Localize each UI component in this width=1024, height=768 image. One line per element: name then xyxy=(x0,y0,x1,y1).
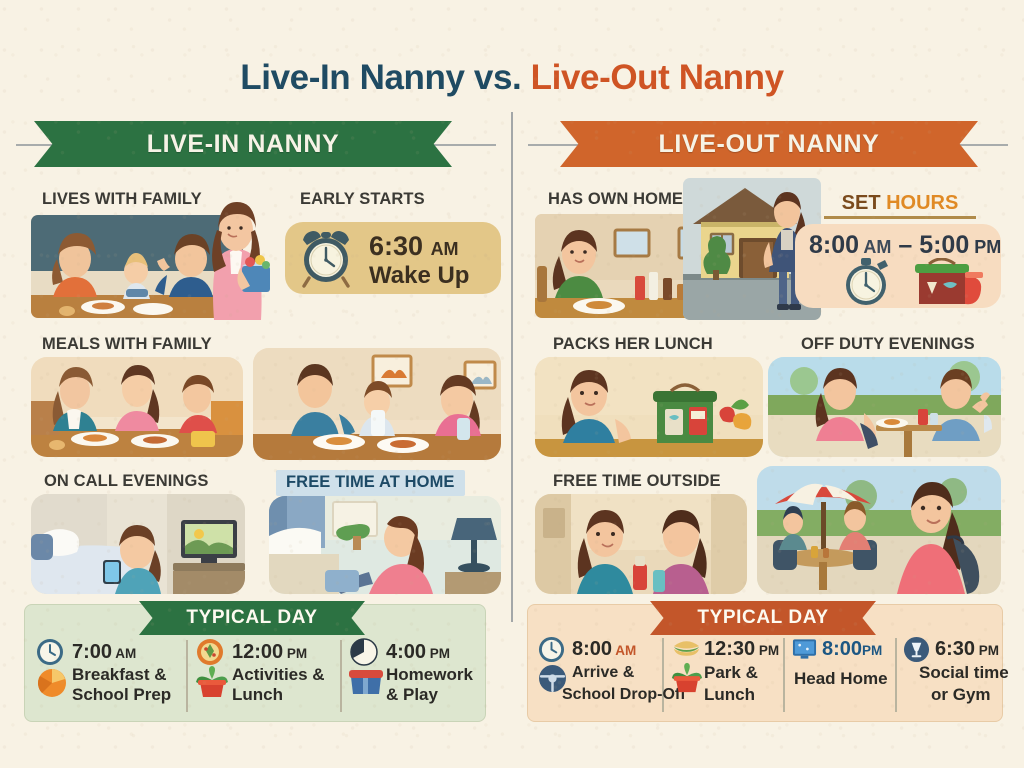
clock-icon xyxy=(36,638,64,666)
typical-day-time-left-1: 7:00 AM xyxy=(72,642,136,662)
set-hours-word-2: HOURS xyxy=(886,192,958,214)
pie-slice-clock-icon xyxy=(350,638,378,666)
page-title: Live-In Nanny vs. Live-Out Nanny xyxy=(0,58,1024,98)
typical-day-separator xyxy=(340,640,342,712)
illustration-cafe-terrace xyxy=(757,466,1001,594)
illustration-off-duty-evening xyxy=(768,357,1001,457)
typical-day-item-right-1: 8:00 AM Arrive & School Drop-Off xyxy=(538,636,662,716)
caption-on-call-evenings: ON CALL EVENINGS xyxy=(44,472,208,491)
typical-day-time-right-1: 8:00 AM xyxy=(572,639,636,659)
typical-day-separator xyxy=(783,638,785,712)
typical-day-time-right-3: 8:00PM xyxy=(822,639,882,659)
potted-plant-icon xyxy=(194,666,230,698)
typical-day-time-left-2: 12:00 PM xyxy=(232,642,307,662)
typical-day-item-left-2: 12:00 PM Activities & Lunch xyxy=(196,638,336,714)
monitor-icon xyxy=(792,638,817,660)
page-title-right: Live-Out Nanny xyxy=(531,58,784,97)
typical-day-desc-left-1-line1: Breakfast & xyxy=(72,666,167,684)
clock-icon xyxy=(538,636,565,663)
caption-lives-with-family: LIVES WITH FAMILY xyxy=(42,190,202,209)
illustration-packing-lunch xyxy=(535,357,763,457)
alarm-clock-icon xyxy=(295,228,357,288)
typical-day-time-right-2: 12:30 PM xyxy=(704,639,779,659)
wake-up-label: Wake Up xyxy=(369,263,469,289)
potted-plant-icon xyxy=(670,662,704,694)
caption-free-time-outside: FREE TIME OUTSIDE xyxy=(553,472,721,491)
sandwich-icon xyxy=(672,636,701,662)
caption-early-starts: EARLY STARTS xyxy=(300,190,425,209)
toy-box-icon xyxy=(348,668,384,696)
typical-day-desc-right-4-line1: Social time xyxy=(919,664,1009,682)
typical-day-separator xyxy=(186,640,188,712)
typical-day-ribbon-left: TYPICAL DAY xyxy=(139,601,365,635)
banner-live-in: LIVE-IN NANNY xyxy=(34,121,452,167)
banner-live-out-label: LIVE-OUT NANNY xyxy=(659,130,880,159)
illustration-free-time-at-home xyxy=(269,496,501,594)
typical-day-separator xyxy=(895,638,897,712)
card-wake-up-time: 6:30 AM Wake Up xyxy=(285,222,501,294)
pie-chart-icon xyxy=(36,668,68,698)
typical-day-desc-right-1-line1: Arrive & xyxy=(572,664,634,681)
typical-day-desc-left-2-line2: Lunch xyxy=(232,686,283,704)
typical-day-desc-left-1-line2: School Prep xyxy=(72,686,171,704)
page-title-vs: vs. xyxy=(465,58,531,97)
illustration-meals-with-family xyxy=(31,357,243,457)
stopwatch-icon xyxy=(839,258,895,306)
set-hours-time-range: 8:00 AM – 5:00 PM xyxy=(809,232,1001,258)
typical-day-desc-right-4-line2: or Gym xyxy=(931,686,991,704)
typical-day-desc-left-3-line2: & Play xyxy=(386,686,438,704)
typical-day-item-right-3: 8:00PM Head Home xyxy=(792,636,892,716)
page-title-left: Live-In Nanny xyxy=(240,58,464,97)
illustration-nanny-with-gift xyxy=(196,198,274,320)
caption-has-own-home: HAS OWN HOME xyxy=(548,190,683,209)
wake-up-time: 6:30 AM xyxy=(369,232,469,260)
caption-packs-her-lunch: PACKS HER LUNCH xyxy=(553,335,713,354)
caption-off-duty-evenings: OFF DUTY EVENINGS xyxy=(801,335,975,354)
typical-day-desc-left-2-line1: Activities & xyxy=(232,666,325,684)
caption-meals-with-family: MEALS WITH FAMILY xyxy=(42,335,212,354)
card-set-hours-range: 8:00 AM – 5:00 PM xyxy=(795,224,1001,308)
typical-day-desc-right-1-line2: School Drop-Off xyxy=(562,686,686,703)
illustration-free-time-outside-left xyxy=(535,494,747,594)
lunch-bag-icon xyxy=(907,258,987,306)
illustration-dad-and-child-meal xyxy=(253,348,501,460)
pizza-icon xyxy=(196,638,224,666)
typical-day-ribbon-right: TYPICAL DAY xyxy=(650,601,876,635)
caption-set-hours: SET HOURS xyxy=(830,192,970,215)
typical-day-time-left-3: 4:00 PM xyxy=(386,642,450,662)
typical-day-desc-left-3-line1: Homework xyxy=(386,666,473,684)
infographic-sheet: Live-In Nanny vs. Live-Out Nanny LIVE-IN… xyxy=(0,0,1024,768)
column-divider xyxy=(511,112,513,622)
typical-day-time-right-4: 6:30 PM xyxy=(935,639,999,659)
banner-live-out: LIVE-OUT NANNY xyxy=(560,121,978,167)
typical-day-desc-right-3-line1: Head Home xyxy=(794,670,888,688)
banner-live-in-label: LIVE-IN NANNY xyxy=(147,130,340,159)
typical-day-item-right-2: 12:30 PM Park & Lunch xyxy=(672,636,780,716)
set-hours-word-1: SET xyxy=(842,192,881,214)
typical-day-desc-right-2-line2: Lunch xyxy=(704,686,755,704)
typical-day-label-right: TYPICAL DAY xyxy=(697,607,828,629)
caption-free-time-at-home: FREE TIME AT HOME xyxy=(276,470,465,496)
typical-day-item-left-3: 4:00 PM Homework & Play xyxy=(350,638,485,714)
typical-day-item-left-1: 7:00 AM Breakfast & School Prep xyxy=(36,638,184,714)
typical-day-desc-right-2-line1: Park & xyxy=(704,664,758,682)
illustration-on-call-evening xyxy=(31,494,245,594)
set-hours-underline xyxy=(824,216,976,219)
wine-glass-icon xyxy=(903,636,930,663)
typical-day-label-left: TYPICAL DAY xyxy=(186,607,317,629)
typical-day-item-right-4: 6:30 PM Social time or Gym xyxy=(903,636,1003,716)
